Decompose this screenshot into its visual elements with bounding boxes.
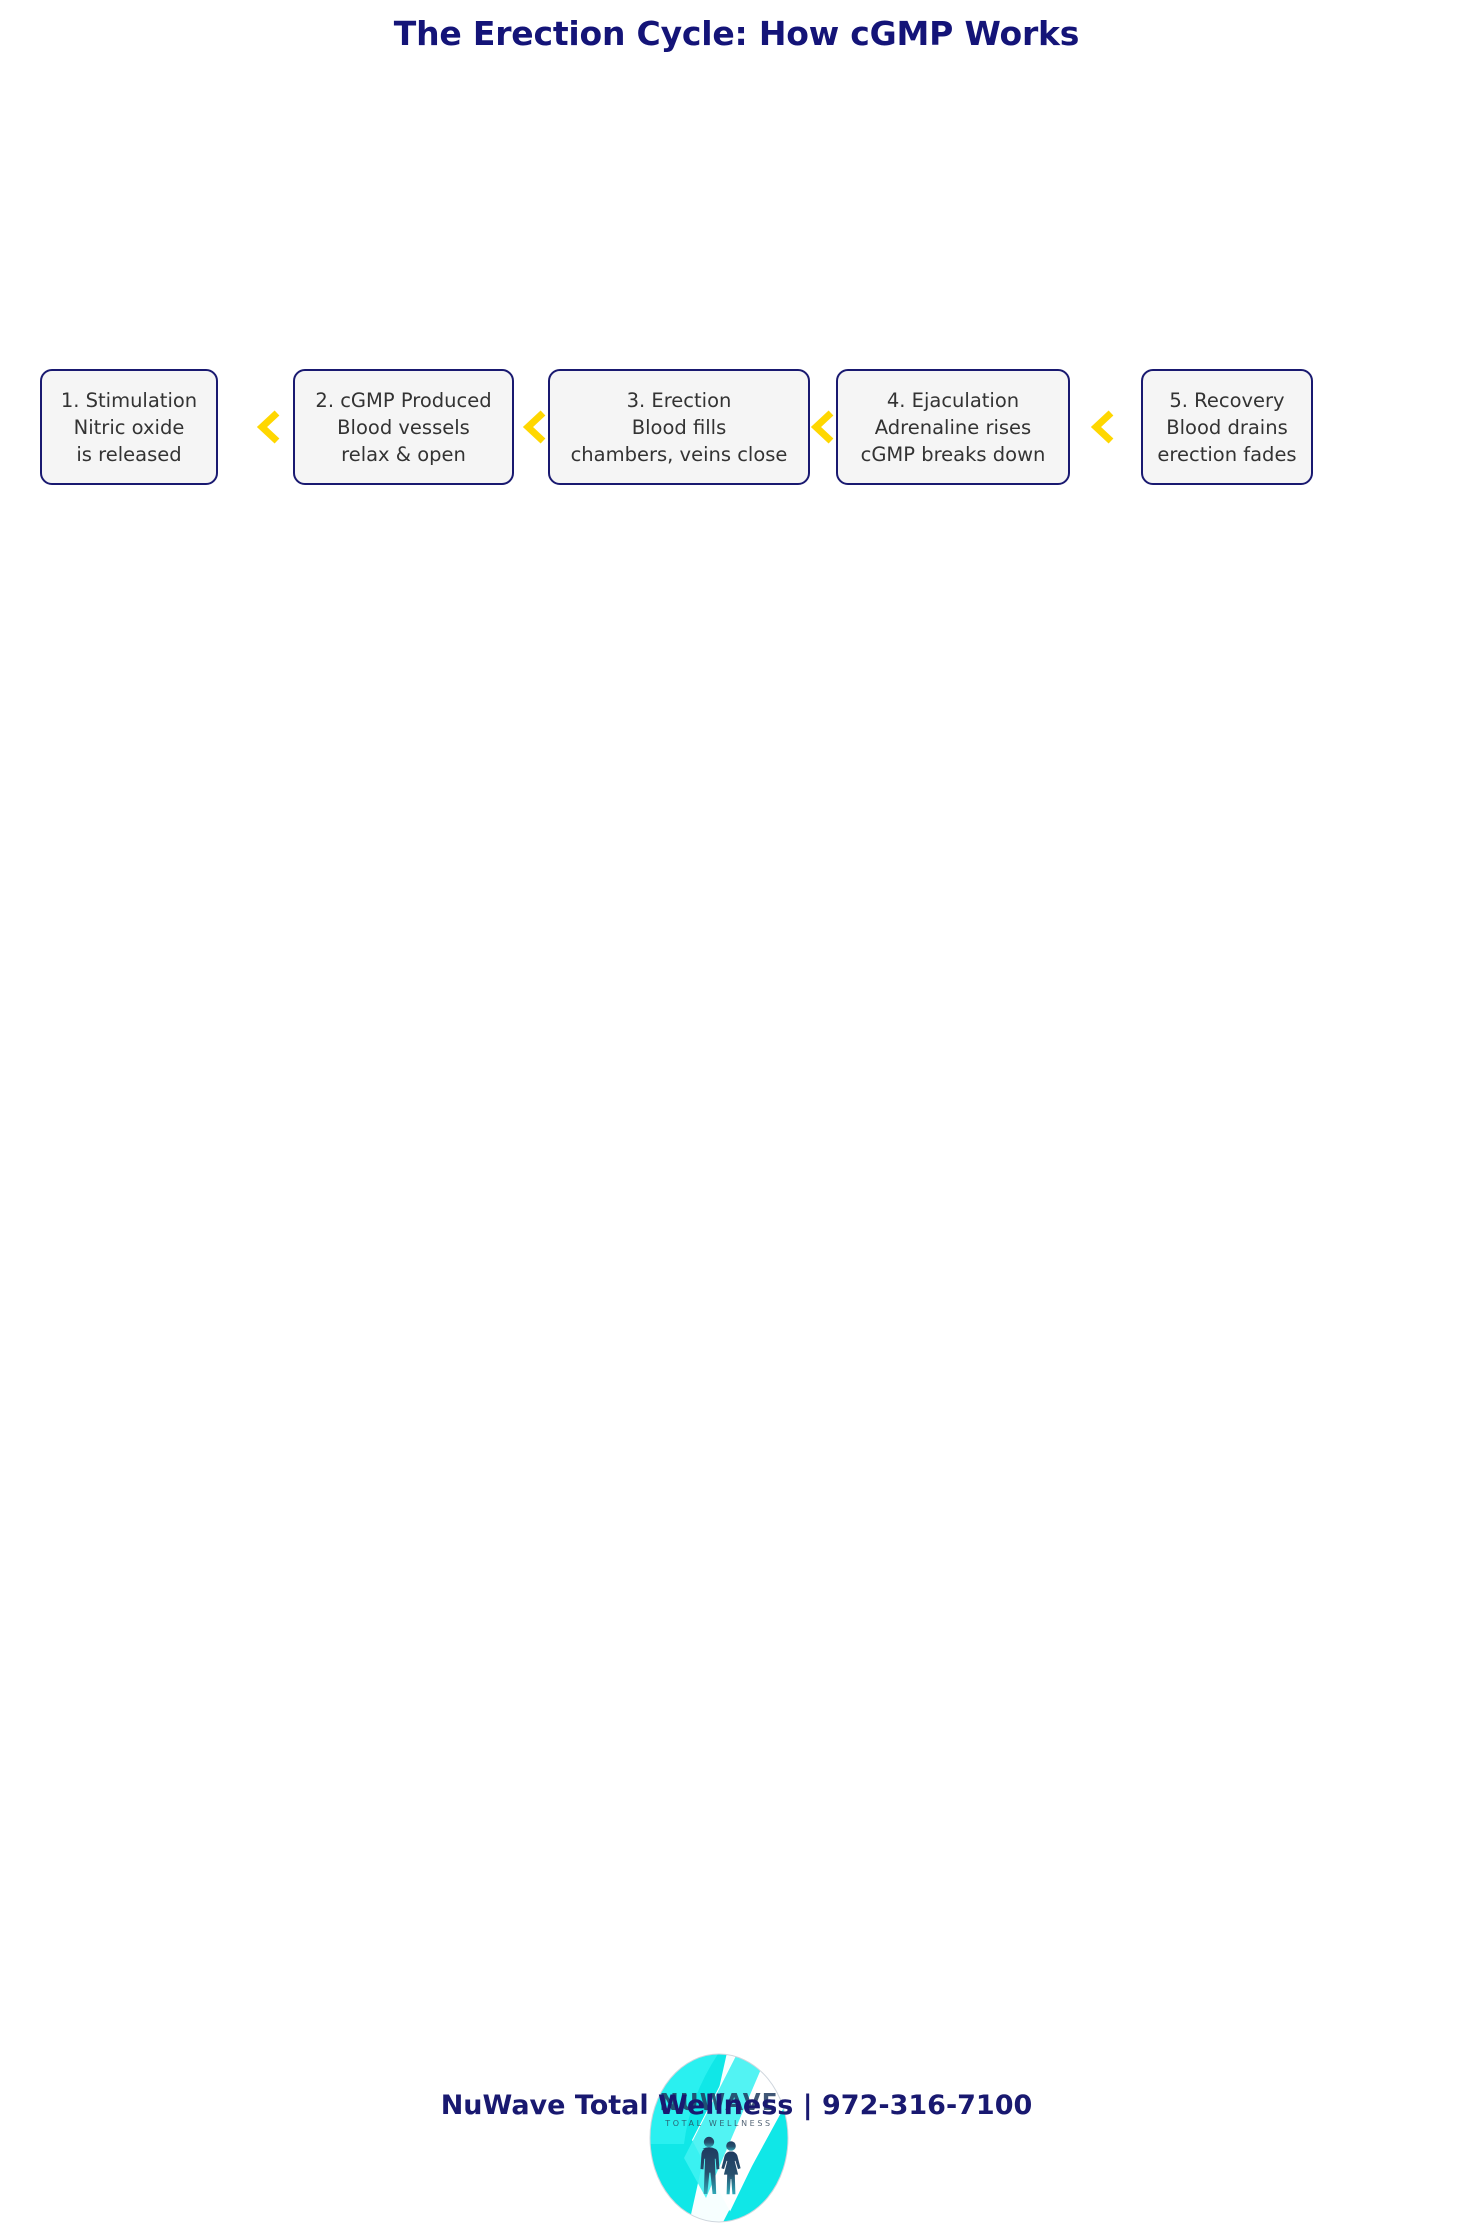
flow-diagram: 1. Stimulation Nitric oxide is released … xyxy=(0,369,1473,489)
flow-arrow-left-icon xyxy=(806,409,840,445)
flow-node-recovery[interactable]: 5. Recovery Blood drains erection fades xyxy=(1141,369,1313,485)
flow-node-label: 5. Recovery Blood drains erection fades xyxy=(1151,387,1302,468)
flow-node-label: 4. Ejaculation Adrenaline rises cGMP bre… xyxy=(855,387,1052,468)
flow-arrow-left-icon xyxy=(518,409,552,445)
flow-node-cgmp-produced[interactable]: 2. cGMP Produced Blood vessels relax & o… xyxy=(293,369,514,485)
footer: NUWAVE TOTAL WELLNESS NuWave Total Welln… xyxy=(0,1020,1473,1215)
page-title: The Erection Cycle: How cGMP Works xyxy=(0,14,1473,53)
footer-brand-contact: NuWave Total Wellness | 972-316-7100 xyxy=(0,2090,1473,2121)
flow-node-ejaculation[interactable]: 4. Ejaculation Adrenaline rises cGMP bre… xyxy=(836,369,1070,485)
flow-node-label: 1. Stimulation Nitric oxide is released xyxy=(55,387,203,468)
flow-node-label: 3. Erection Blood fills chambers, veins … xyxy=(565,387,794,468)
flow-arrow-left-icon xyxy=(252,409,286,445)
flow-node-label: 2. cGMP Produced Blood vessels relax & o… xyxy=(309,387,497,468)
flow-arrow-left-icon xyxy=(1086,409,1120,445)
brand-logo-icon: NUWAVE TOTAL WELLNESS xyxy=(644,2048,794,2228)
flow-node-erection[interactable]: 3. Erection Blood fills chambers, veins … xyxy=(548,369,810,485)
flow-node-stimulation[interactable]: 1. Stimulation Nitric oxide is released xyxy=(40,369,218,485)
